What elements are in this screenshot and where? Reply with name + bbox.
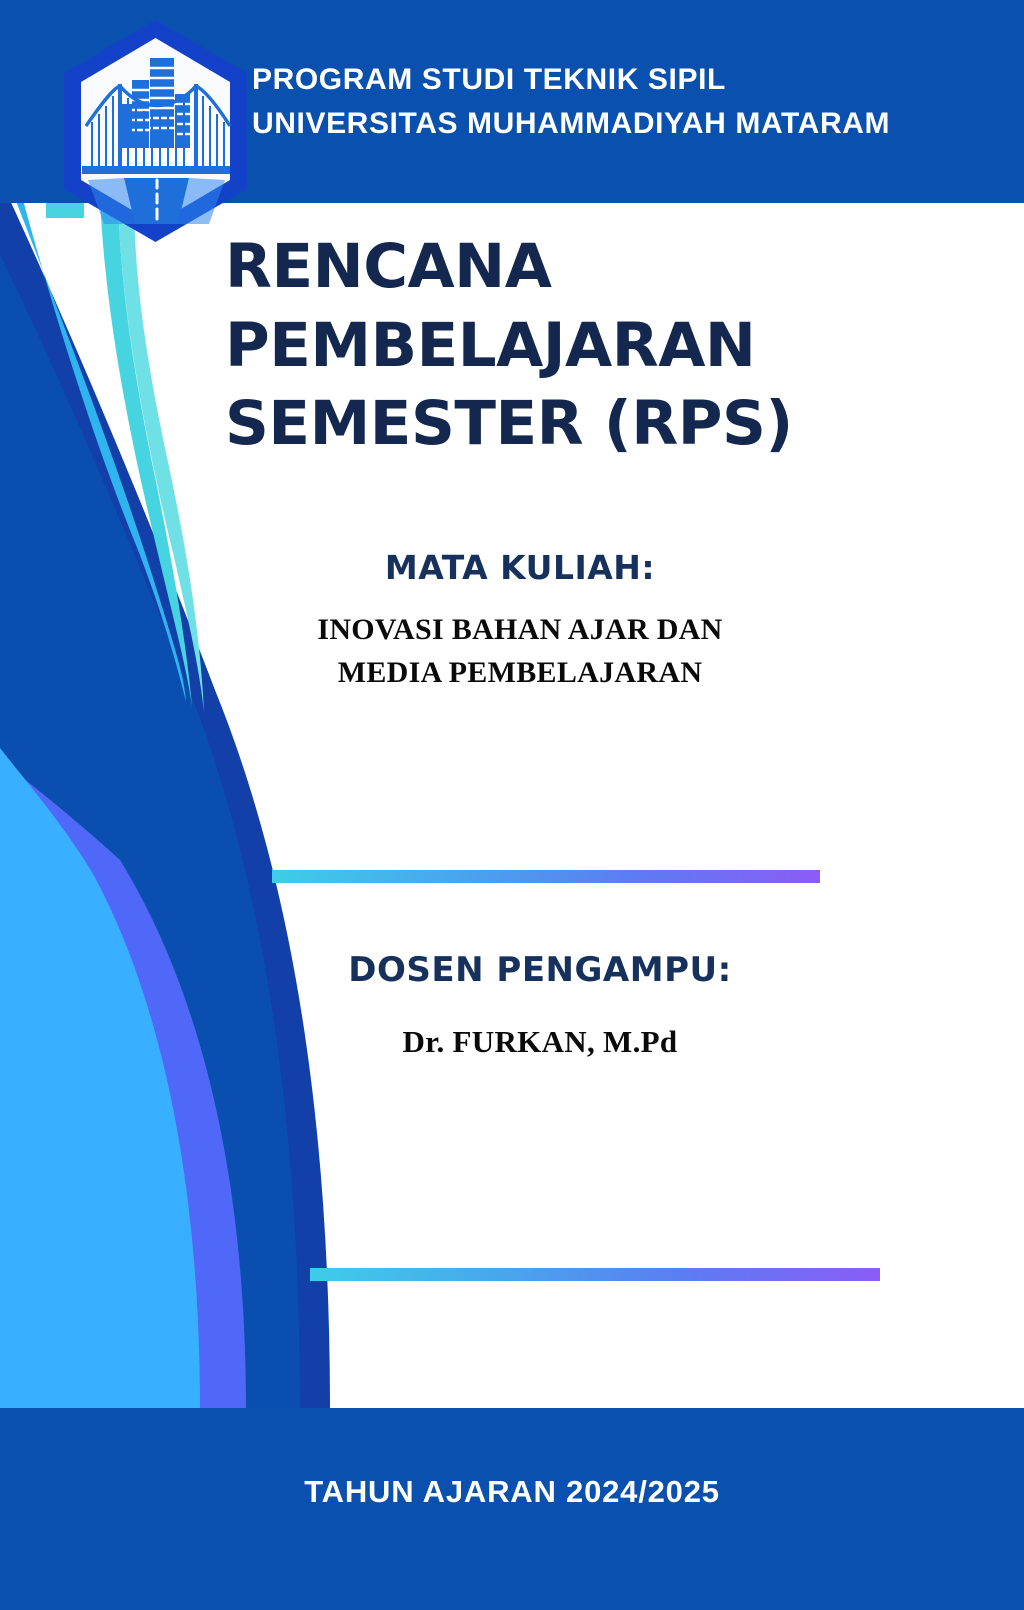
course-label: MATA KULIAH: — [140, 548, 900, 587]
logo-bridge-deck — [82, 166, 230, 174]
academic-year-text: TAHUN AJARAN 2024/2025 — [0, 1474, 1024, 1510]
lecturer-section: DOSEN PENGAMPU: Dr. FURKAN, M.Pd — [160, 950, 920, 1060]
course-name-line-2: MEDIA PEMBELAJARAN — [140, 652, 900, 695]
header-university-line: UNIVERSITAS MUHAMMADIYAH MATARAM — [252, 102, 890, 146]
gradient-divider-bottom — [310, 1268, 880, 1281]
course-name: INOVASI BAHAN AJAR DAN MEDIA PEMBELAJARA… — [140, 609, 900, 694]
course-section: MATA KULIAH: INOVASI BAHAN AJAR DAN MEDI… — [140, 548, 900, 694]
title-line-1: RENCANA — [225, 228, 925, 307]
header-program-line: PROGRAM STUDI TEKNIK SIPIL — [252, 58, 890, 102]
page-title: RENCANA PEMBELAJARAN SEMESTER (RPS) — [225, 228, 925, 464]
lecturer-label: DOSEN PENGAMPU: — [160, 950, 920, 990]
civil-engineering-hexagon-logo — [58, 18, 253, 244]
course-name-line-1: INOVASI BAHAN AJAR DAN — [140, 609, 900, 652]
lecturer-name: Dr. FURKAN, M.Pd — [160, 1024, 920, 1060]
title-line-3: SEMESTER (RPS) — [225, 385, 925, 464]
gradient-divider-top — [272, 870, 820, 883]
document-cover-page: PROGRAM STUDI TEKNIK SIPIL UNIVERSITAS M… — [0, 0, 1024, 1610]
title-line-2: PEMBELAJARAN — [225, 307, 925, 386]
header-institution-text: PROGRAM STUDI TEKNIK SIPIL UNIVERSITAS M… — [252, 58, 890, 147]
